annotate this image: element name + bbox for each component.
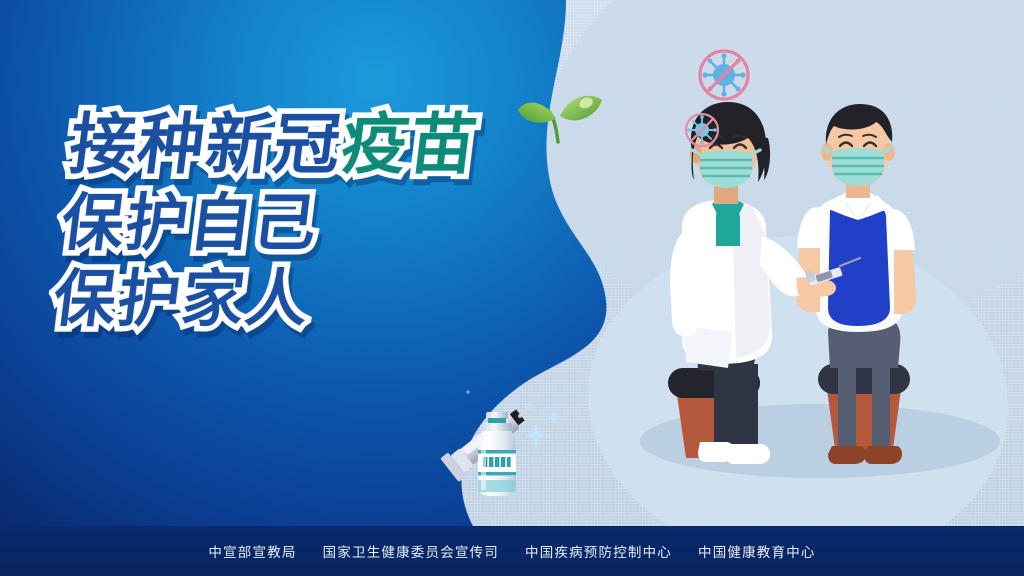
footer-org-2: 国家卫生健康委员会宣传司 <box>323 541 499 561</box>
headline-line-1-blue: 接种新冠 <box>65 106 346 183</box>
headline-line-3: 保护家人 <box>50 268 614 330</box>
headline-line-1-teal: 疫苗 <box>337 106 482 183</box>
footer-org-4: 中国健康教育中心 <box>698 541 816 561</box>
no-virus-icon-small <box>684 112 720 148</box>
footer-organizations: 中宣部宣教局 国家卫生健康委员会宣传司 中国疾病预防控制中心 中国健康教育中心 <box>208 541 815 561</box>
headline-block: 接种新冠疫苗 保护自己 保护家人 <box>70 112 610 344</box>
vaccination-illustration <box>640 96 1000 496</box>
vaccination-poster: 接种新冠疫苗 保护自己 保护家人 <box>0 0 1024 576</box>
footer-org-3: 中国疾病预防控制中心 <box>525 541 672 561</box>
footer-bar: 中宣部宣教局 国家卫生健康委员会宣传司 中国疾病预防控制中心 中国健康教育中心 <box>0 526 1024 576</box>
sprout-icon <box>512 84 608 144</box>
no-virus-icon <box>697 48 751 102</box>
headline-line-2: 保护自己 <box>58 192 614 254</box>
vaccine-vial-and-syringe <box>432 382 582 502</box>
footer-org-1: 中宣部宣教局 <box>208 541 296 561</box>
